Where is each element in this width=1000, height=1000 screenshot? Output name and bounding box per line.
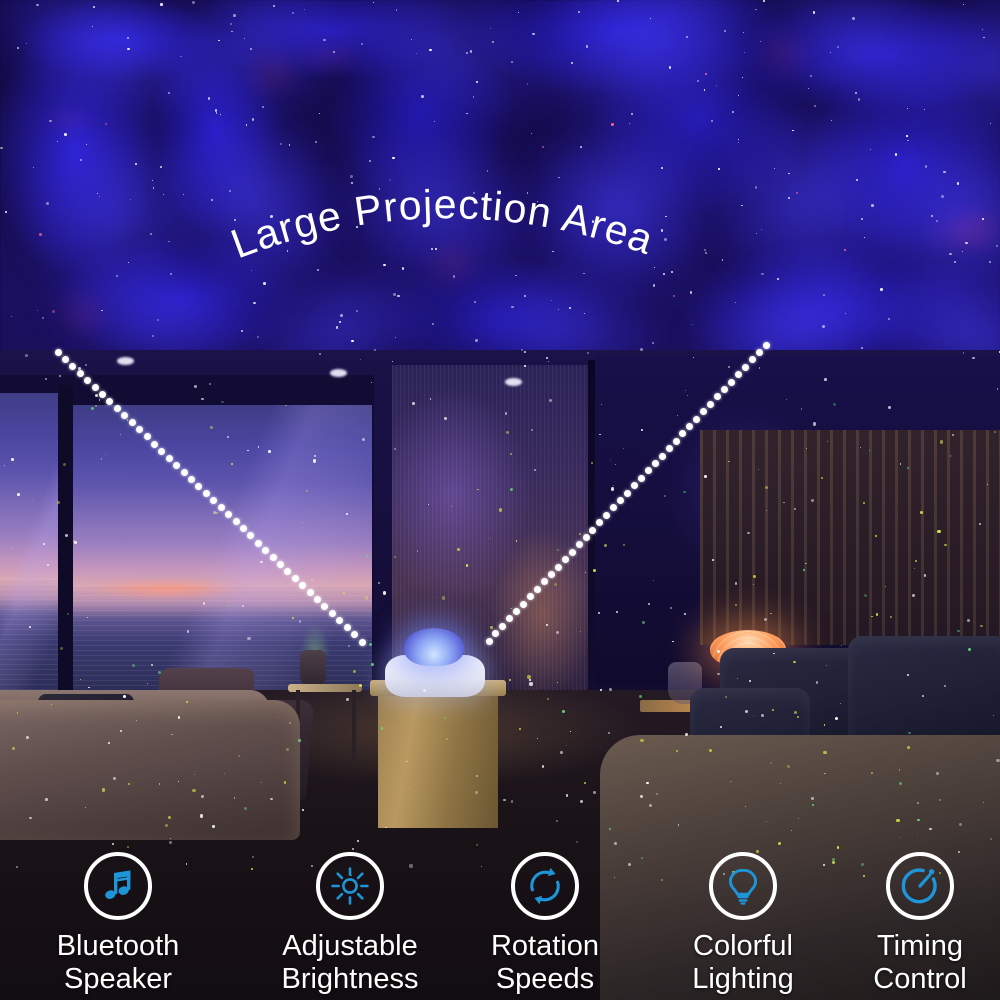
bed-headboard xyxy=(700,430,1000,645)
laser-fleck xyxy=(760,40,806,68)
headline-text: Large Projection Area xyxy=(225,181,660,267)
side-table-leg xyxy=(352,690,356,762)
timer-icon[interactable] xyxy=(886,852,954,920)
glass-sheen xyxy=(0,393,58,693)
product-scene: Large Projection Area Bluetooth xyxy=(0,0,1000,1000)
feature-timing-control[interactable]: Timing Control xyxy=(820,852,1000,996)
recessed-downlight xyxy=(117,357,134,365)
light-bulb-icon[interactable] xyxy=(709,852,777,920)
pedestal xyxy=(378,688,498,828)
curtain-edge xyxy=(588,360,595,705)
feature-label: Timing Control xyxy=(820,930,1000,996)
feature-adjustable-brightness[interactable]: Adjustable Brightness xyxy=(250,852,450,996)
feature-label: Bluetooth Speaker xyxy=(18,930,218,996)
recessed-downlight xyxy=(505,378,522,386)
sofa xyxy=(0,700,300,840)
laser-fleck xyxy=(60,300,106,328)
window-pane-small xyxy=(0,393,58,693)
feature-label: Adjustable Brightness xyxy=(250,930,450,996)
laser-fleck xyxy=(955,215,1000,243)
recessed-downlight xyxy=(330,369,347,377)
bed-pillow xyxy=(848,636,1000,748)
rotation-arrows-icon[interactable] xyxy=(511,852,579,920)
feature-label: Colorful Lighting xyxy=(643,930,843,996)
feature-colorful-lighting[interactable]: Colorful Lighting xyxy=(643,852,843,996)
music-note-icon[interactable] xyxy=(84,852,152,920)
laser-fleck xyxy=(250,60,296,88)
feature-label: Rotation Speeds xyxy=(445,930,645,996)
window-mullion xyxy=(58,385,73,700)
feature-strip: Bluetooth Speaker xyxy=(0,820,1000,1000)
feature-bluetooth-speaker[interactable]: Bluetooth Speaker xyxy=(18,852,218,996)
sun-brightness-icon[interactable] xyxy=(316,852,384,920)
feature-rotation-speeds[interactable]: Rotation Speeds xyxy=(445,852,645,996)
vase xyxy=(300,650,326,686)
headline: Large Projection Area xyxy=(170,170,710,310)
star-projector-dome xyxy=(404,628,464,666)
